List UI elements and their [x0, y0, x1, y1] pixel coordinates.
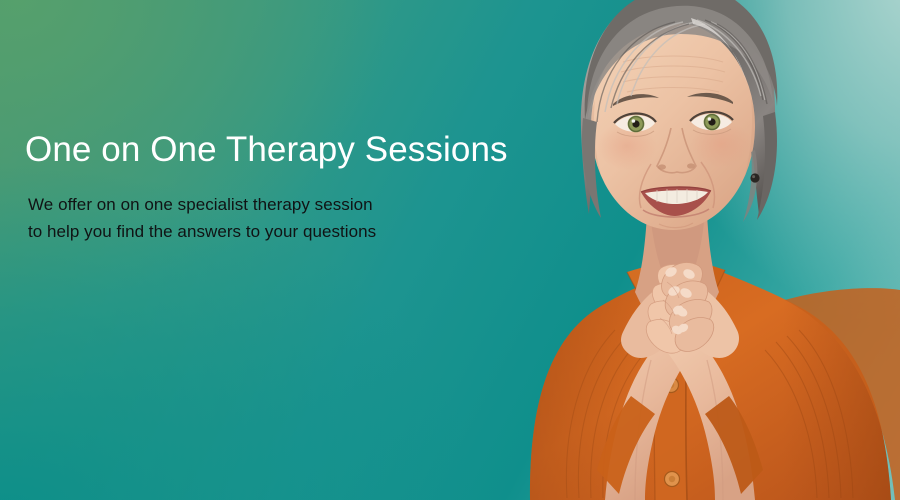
portrait-photo — [455, 0, 900, 500]
hero-subtitle-line-2: to help you find the answers to your que… — [28, 218, 545, 245]
earring — [750, 173, 759, 182]
hero-banner: One on One Therapy Sessions We offer on … — [0, 0, 900, 500]
page-title: One on One Therapy Sessions — [25, 128, 545, 172]
hero-text-block: One on One Therapy Sessions We offer on … — [25, 128, 545, 245]
hero-subtitle-line-1: We offer on on one specialist therapy se… — [28, 195, 373, 214]
hero-subtitle: We offer on on one specialist therapy se… — [28, 191, 545, 245]
